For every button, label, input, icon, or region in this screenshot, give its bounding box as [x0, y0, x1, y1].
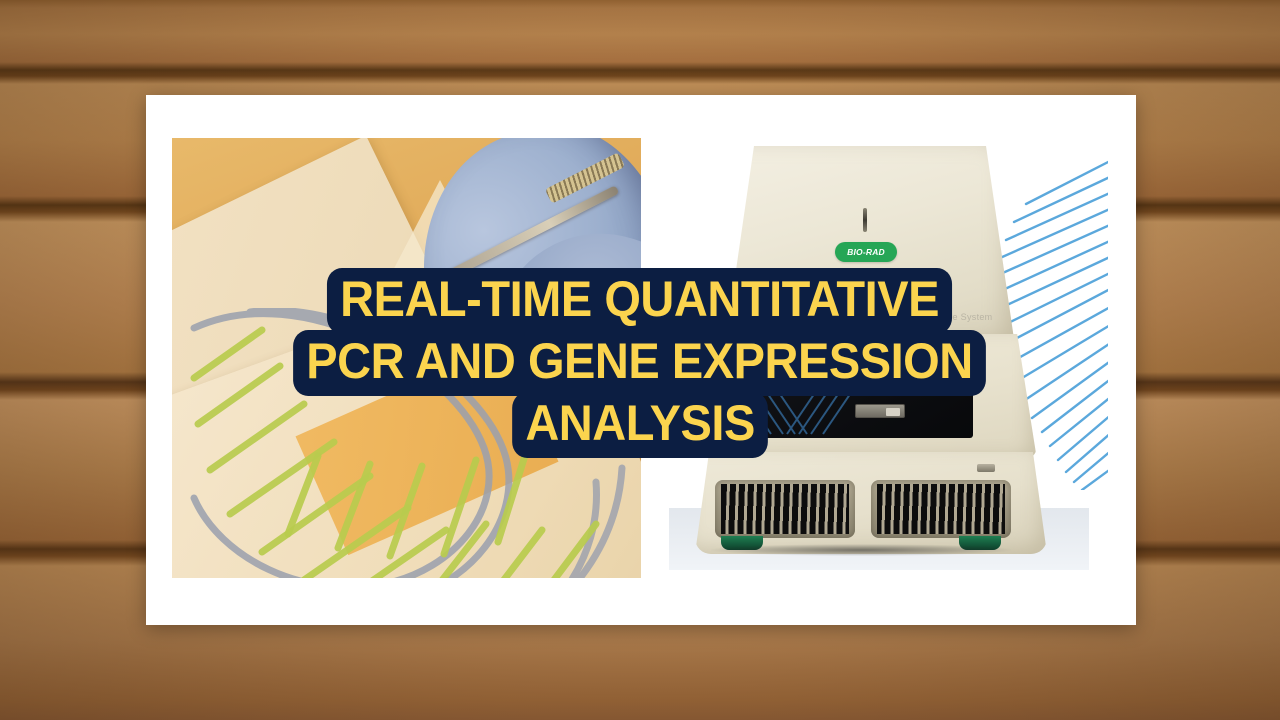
vent-grille-left: [715, 480, 855, 538]
instrument-display-bay: [733, 382, 973, 438]
dna-helix-illustration-secondary: [198, 438, 641, 578]
pcr-thermal-cycler: BIO-RAD Time System: [659, 146, 1079, 570]
instrument-ground-shadow: [711, 544, 1011, 556]
instrument-model-label: Time System: [937, 312, 992, 322]
biorad-logo-text: BIO-RAD: [847, 247, 885, 257]
gel-electrophoresis-photo: [172, 138, 641, 578]
photo-collage: BIO-RAD Time System: [172, 138, 1108, 578]
usb-port-module: [855, 404, 905, 418]
vent-grille-right: [871, 480, 1011, 538]
lid-slot: [863, 208, 867, 232]
base-handle: [977, 464, 995, 472]
biorad-logo: BIO-RAD: [835, 242, 897, 262]
pcr-instrument-photo: BIO-RAD Time System: [641, 138, 1108, 578]
poster-canvas: BIO-RAD Time System: [0, 0, 1280, 720]
